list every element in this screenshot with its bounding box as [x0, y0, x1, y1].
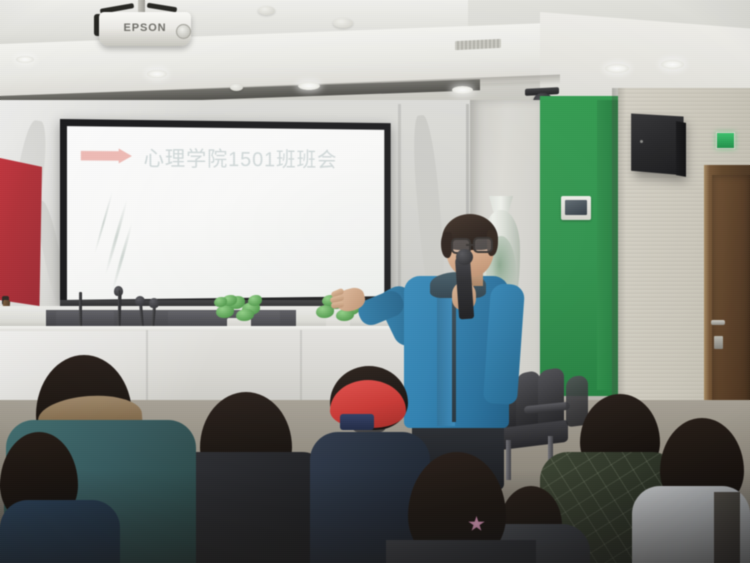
smoke-detector-icon: [258, 6, 275, 15]
podium-seam: [146, 330, 148, 404]
downlight-icon: [605, 64, 629, 73]
potted-plant: [214, 293, 266, 323]
projector-lens-icon: [176, 24, 191, 39]
wall-speaker-side: [676, 121, 686, 177]
screen-light-streak: [111, 222, 133, 292]
slide-arrow-shape: [81, 148, 132, 163]
podium-seam: [300, 330, 302, 404]
downlight-icon: [661, 60, 684, 69]
exit-sign-icon: [716, 132, 735, 149]
smoke-detector-icon: [230, 84, 243, 91]
foreground-shadow: [0, 470, 750, 563]
cap-back-strap: [340, 414, 374, 430]
red-banner-flag: [0, 158, 42, 306]
photo-scene: EPSON 心理学院1501班班会: [0, 0, 750, 563]
eyeglasses-icon: [473, 237, 493, 253]
eyeglasses-bridge: [466, 244, 474, 246]
door-lock-plate[interactable]: [714, 336, 723, 349]
microphone-head: [456, 249, 473, 265]
wall-control-panel-screen[interactable]: [565, 200, 587, 215]
smoke-detector-icon: [333, 18, 353, 28]
downlight-icon: [147, 70, 167, 78]
wall-speaker-led: [640, 140, 643, 143]
slide-title-text: 心理学院1501班班会: [144, 143, 379, 174]
podium-microphone-head: [149, 298, 159, 308]
door-handle-icon[interactable]: [711, 320, 725, 325]
projection-screen-surface: 心理学院1501班班会: [67, 126, 384, 300]
presenter-jacket-zipper: [452, 292, 456, 422]
stage-microphone-stand: [118, 290, 120, 326]
downlight-icon: [298, 82, 320, 90]
wall-corner-shadow: [612, 88, 626, 418]
projection-screen: 心理学院1501班班会: [60, 119, 391, 307]
screen-light-streak: [94, 191, 114, 255]
downlight-icon: [452, 86, 473, 94]
downlight-icon: [16, 56, 34, 63]
podium-microphone-head: [135, 296, 145, 306]
